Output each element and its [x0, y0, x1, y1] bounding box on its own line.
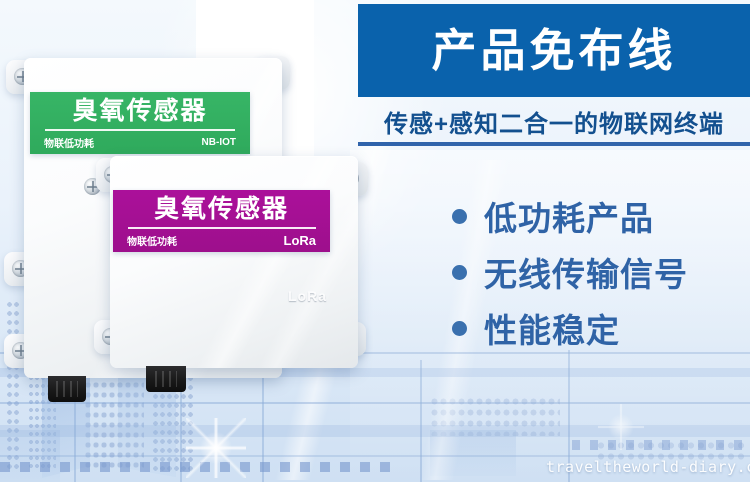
label-divider: [128, 227, 316, 229]
cable-gland: [48, 376, 86, 402]
product-label-nb-iot: 臭氧传感器 物联低功耗 NB-IOT: [30, 92, 250, 154]
label-left-text: 物联低功耗: [127, 233, 177, 248]
cable-gland: [146, 366, 186, 392]
label-title: 臭氧传感器: [113, 197, 330, 222]
bullet-dot-icon: [452, 265, 467, 280]
feature-label: 低功耗产品: [484, 192, 654, 240]
feature-item: 无线传输信号: [452, 244, 742, 300]
feature-item: 低功耗产品: [452, 188, 742, 244]
label-right-text: LoRa: [284, 233, 317, 248]
product-banner-image: 臭氧传感器 物联低功耗 NB-IOT LoRa 臭氧传感器 物联低功耗: [0, 0, 750, 482]
label-divider: [45, 129, 235, 131]
feature-list: 低功耗产品 无线传输信号 性能稳定: [452, 188, 742, 356]
label-title: 臭氧传感器: [30, 99, 250, 124]
enclosure-emboss-text: LoRa: [288, 288, 327, 304]
feature-label: 性能稳定: [484, 304, 620, 352]
label-left-text: 物联低功耗: [44, 135, 94, 150]
feature-item: 性能稳定: [452, 300, 742, 356]
page-subtitle: 传感+感知二合一的物联网终端: [358, 104, 750, 139]
enclosure-body: [110, 156, 358, 368]
page-title: 产品免布线: [431, 28, 676, 73]
label-right-text: NB-IOT: [202, 137, 236, 148]
bullet-dot-icon: [452, 321, 467, 336]
product-label-lora: 臭氧传感器 物联低功耗 LoRa: [113, 190, 330, 252]
subtitle-divider: [358, 142, 750, 146]
sparkle-icon: [186, 418, 246, 478]
enclosure-sheen: [110, 156, 358, 368]
headline-banner: 产品免布线: [358, 4, 750, 97]
feature-label: 无线传输信号: [484, 248, 688, 296]
watermark: traveltheworld-diary.co: [546, 458, 750, 476]
bullet-dot-icon: [452, 209, 467, 224]
